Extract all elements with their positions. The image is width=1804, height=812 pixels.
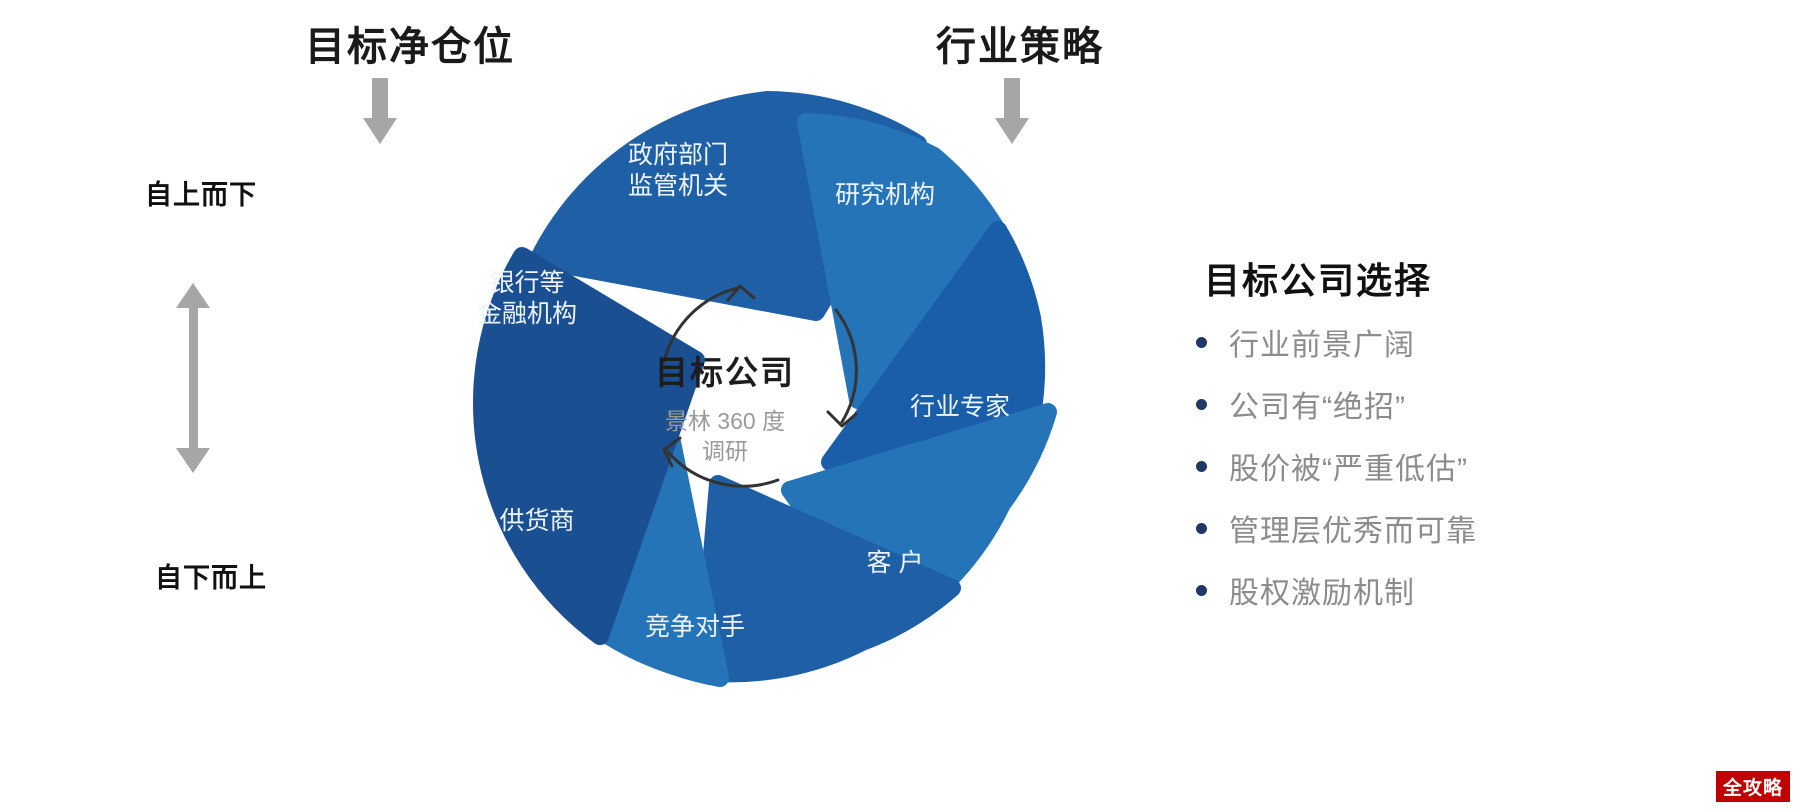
watermark: 全攻略 <box>1716 771 1790 802</box>
label-top-down: 自上而下 <box>145 173 257 212</box>
list-item-label: 股权激励机制 <box>1229 568 1415 612</box>
right-panel-list: 行业前景广阔 公司有“绝招” 股价被“严重低估” 管理层优秀而可靠 股权激励机制 <box>1196 320 1756 612</box>
arrow-down-left-icon <box>363 78 397 144</box>
list-item-label: 股价被“严重低估” <box>1229 444 1468 488</box>
center-text-block: 目标公司 景林 360 度 调研 <box>620 346 830 467</box>
list-item: 公司有“绝招” <box>1196 382 1756 426</box>
arrow-head <box>363 118 397 144</box>
arrow-head-down <box>176 448 210 473</box>
label-bottom-up: 自下而上 <box>155 556 267 595</box>
list-item-label: 行业前景广阔 <box>1229 320 1415 364</box>
list-item: 管理层优秀而可靠 <box>1196 506 1756 550</box>
bullet-icon <box>1196 461 1207 472</box>
bullet-icon <box>1196 337 1207 348</box>
center-title: 目标公司 <box>620 346 830 394</box>
list-item-label: 管理层优秀而可靠 <box>1229 506 1477 550</box>
right-panel-heading: 目标公司选择 <box>1204 252 1756 304</box>
slide-canvas: 目标净仓位 行业策略 自上而下 自下而上 <box>0 0 1804 812</box>
right-panel: 目标公司选择 行业前景广阔 公司有“绝招” 股价被“严重低估” 管理层优秀而可靠… <box>1196 252 1756 630</box>
arrow-head-up <box>176 283 210 308</box>
arrow-shaft <box>189 308 198 448</box>
arrow-shaft <box>372 78 388 118</box>
bullet-icon <box>1196 585 1207 596</box>
list-item: 行业前景广阔 <box>1196 320 1756 364</box>
list-item: 股价被“严重低估” <box>1196 444 1756 488</box>
list-item: 股权激励机制 <box>1196 568 1756 612</box>
bullet-icon <box>1196 399 1207 410</box>
bullet-icon <box>1196 523 1207 534</box>
center-subtitle: 景林 360 度 调研 <box>620 406 830 467</box>
list-item-label: 公司有“绝招” <box>1229 382 1406 426</box>
arrow-double-vertical-icon <box>176 283 210 473</box>
